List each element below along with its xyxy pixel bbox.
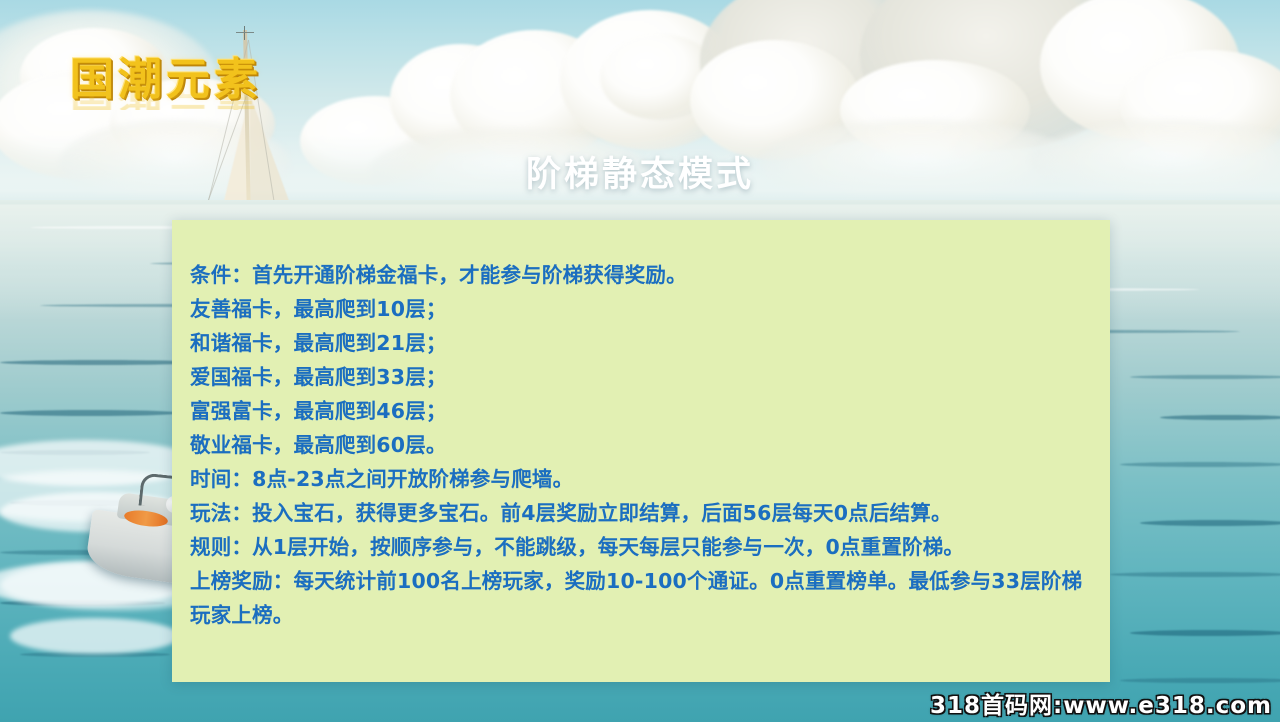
water-ripple	[0, 360, 200, 365]
water-ripple	[1120, 678, 1280, 683]
rule-line-rules: 规则：从1层开始，按顺序参与，不能跳级，每天每层只能参与一次，0点重置阶梯。	[190, 530, 1090, 564]
water-ripple	[1130, 630, 1280, 636]
water-ripple	[1130, 375, 1280, 379]
rule-line-card-youshan: 友善福卡，最高爬到10层；	[190, 292, 1090, 326]
rule-line-card-fuqiang: 富强富卡，最高爬到46层；	[190, 394, 1090, 428]
rule-line-condition: 条件：首先开通阶梯金福卡，才能参与阶梯获得奖励。	[190, 258, 1090, 292]
sea-foam	[10, 618, 180, 654]
water-ripple	[1160, 415, 1280, 420]
mast-antenna	[236, 32, 254, 33]
rule-line-card-hexie: 和谐福卡，最高爬到21层；	[190, 326, 1090, 360]
rule-line-card-jingye: 敬业福卡，最高爬到60层。	[190, 428, 1090, 462]
rule-line-gameplay: 玩法：投入宝石，获得更多宝石。前4层奖励立即结算，后面56层每天0点后结算。	[190, 496, 1090, 530]
water-ripple	[1120, 462, 1280, 467]
content-panel: 条件：首先开通阶梯金福卡，才能参与阶梯获得奖励。 友善福卡，最高爬到10层； 和…	[172, 220, 1110, 682]
water-ripple	[1110, 572, 1280, 577]
rule-line-card-aiguo: 爱国福卡，最高爬到33层；	[190, 360, 1090, 394]
slide-canvas: 国潮元素 国潮元素 阶梯静态模式 条件：首先开通阶梯金福卡，才能参与阶梯获得奖励…	[0, 0, 1280, 722]
water-ripple	[0, 410, 180, 416]
brand-logo-reflection: 国潮元素	[70, 73, 262, 110]
mast-tip	[244, 26, 245, 40]
page-title: 阶梯静态模式	[0, 146, 1280, 197]
rule-line-time: 时间：8点-23点之间开放阶梯参与爬墙。	[190, 462, 1090, 496]
content-panel-body: 条件：首先开通阶梯金福卡，才能参与阶梯获得奖励。 友善福卡，最高爬到10层； 和…	[172, 220, 1110, 632]
rule-line-leaderboard: 上榜奖励：每天统计前100名上榜玩家，奖励10-100个通证。0点重置榜单。最低…	[190, 564, 1090, 632]
site-watermark: 318首码网:www.e318.com	[930, 686, 1272, 720]
water-ripple	[1140, 520, 1280, 526]
